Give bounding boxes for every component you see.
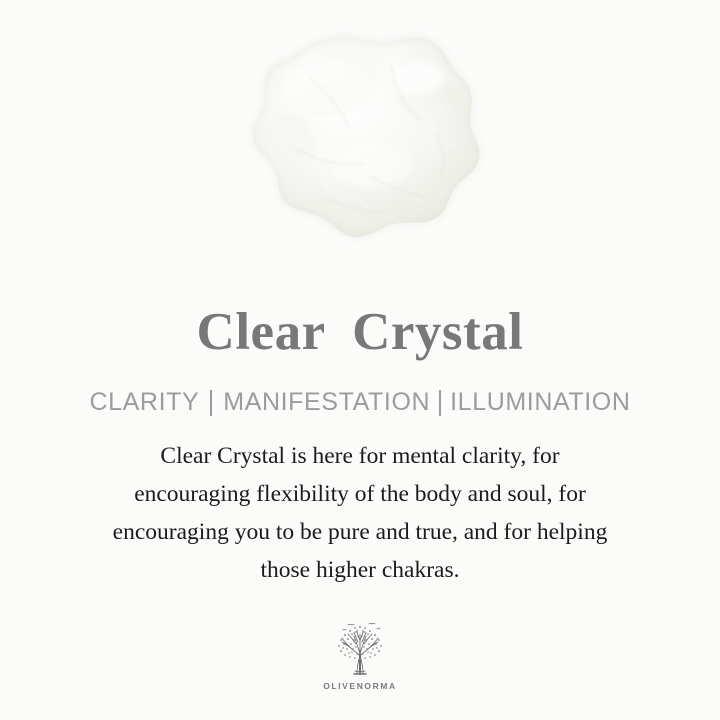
keyword-clarity: CLARITY [89,390,199,415]
description-line: those higher chakras. [40,551,680,589]
product-image-area [0,0,720,288]
tree-logo-icon [328,620,392,680]
keyword-separator-icon [210,390,212,416]
keyword-manifestation: MANIFESTATION [223,390,430,415]
product-info-card: Clear Crystal CLARITY MANIFESTATION ILLU… [0,0,720,720]
brand-logo: OLIVENORMA [0,620,720,691]
keyword-list: CLARITY MANIFESTATION ILLUMINATION [89,389,630,415]
crystal-highlight-top-right [392,62,444,94]
keyword-separator-icon [439,390,441,416]
description-line: encouraging you to be pure and true, and… [40,513,680,551]
description-line: Clear Crystal is here for mental clarity… [40,437,680,475]
crystal-highlight-center [332,144,412,188]
tree-birds [343,623,380,630]
keyword-illumination: ILLUMINATION [450,390,630,415]
crystal-illustration [222,26,502,262]
clear-quartz-raw-stone [222,26,502,262]
product-description: Clear Crystal is here for mental clarity… [40,437,680,589]
description-line: encouraging flexibility of the body and … [40,475,680,513]
brand-name: OLIVENORMA [323,682,397,691]
page-title: Clear Crystal [197,306,524,359]
crystal-highlight-main [282,62,386,122]
